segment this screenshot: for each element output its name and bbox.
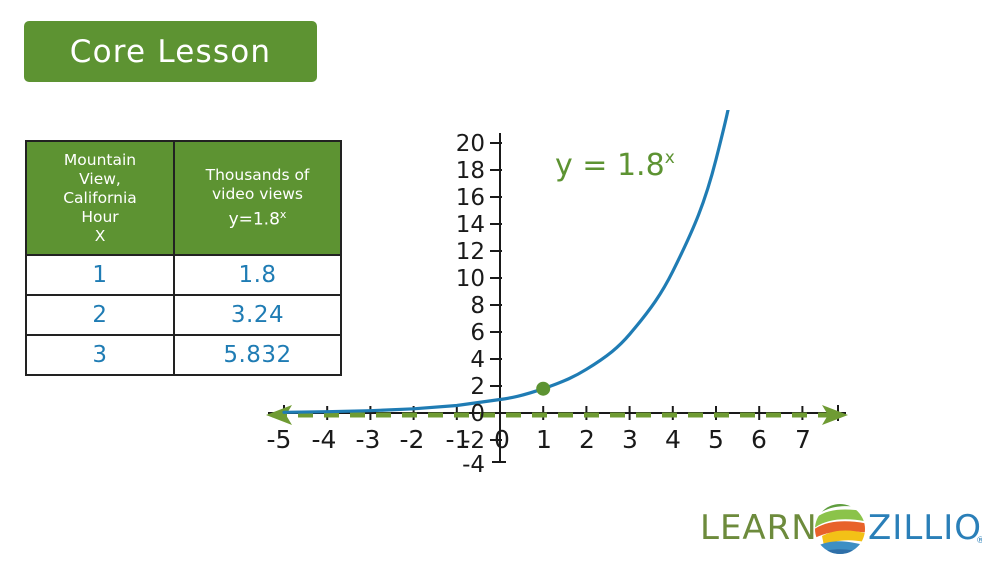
y-tick-label: 8 xyxy=(470,293,485,319)
logo-word-zillion: ZILLION xyxy=(868,508,982,548)
y-tick-label: 18 xyxy=(456,158,485,184)
left-arrow-icon xyxy=(266,405,292,425)
x-tick-label: 4 xyxy=(665,425,681,454)
x-tick-label: -1 xyxy=(446,425,471,454)
x-axis-labels: -5 -4 -3 -2 -1 0 1 2 3 4 5 6 7 xyxy=(267,425,811,454)
x-tick-label: 5 xyxy=(708,425,724,454)
y-tick-label: 10 xyxy=(456,266,485,292)
curve-equation-base: y = 1.8 xyxy=(555,148,665,183)
curve-equation-label: y = 1.8x xyxy=(555,148,675,183)
header-line-4: Hour xyxy=(31,208,169,227)
x-tick-label: 1 xyxy=(536,425,552,454)
x-tick-label: -4 xyxy=(312,425,337,454)
y-tick-label: 14 xyxy=(456,212,485,238)
logo-word-learn: LEARN xyxy=(700,508,818,548)
x-tick-label: -3 xyxy=(356,425,381,454)
logo-svg: LEARN ZILLION ® xyxy=(700,503,982,555)
header-line-2: View, xyxy=(31,170,169,189)
y-tick-label: -4 xyxy=(462,452,485,478)
curve-equation-exponent: x xyxy=(665,148,675,168)
x-tick-label: 0 xyxy=(494,425,510,454)
header-line-1: Mountain xyxy=(31,151,169,170)
logo-globe-icon xyxy=(813,503,869,555)
learnzillion-logo: LEARN ZILLION ® xyxy=(700,503,982,555)
exponential-graph: y = 1.8x 20 18 16 14 12 10 8 6 4 2 0 -2 … xyxy=(250,110,870,480)
x-tick-label: -5 xyxy=(267,425,292,454)
cell-hour: 3 xyxy=(26,335,174,375)
cell-hour: 2 xyxy=(26,295,174,335)
marked-point-1-1point8 xyxy=(536,382,550,396)
core-lesson-banner: Core Lesson xyxy=(24,21,317,82)
y-tick-label: 2 xyxy=(470,374,485,400)
y-tick-label: 6 xyxy=(470,320,485,346)
y-tick-label: 0 xyxy=(470,401,485,427)
table-header-hour: Mountain View, California Hour X xyxy=(26,141,174,255)
x-tick-label: 3 xyxy=(622,425,638,454)
logo-trademark: ® xyxy=(976,536,982,546)
core-lesson-banner-label: Core Lesson xyxy=(70,34,272,70)
y-tick-label: 16 xyxy=(456,185,485,211)
graph-canvas: y = 1.8x 20 18 16 14 12 10 8 6 4 2 0 -2 … xyxy=(250,110,870,480)
x-tick-label: 7 xyxy=(795,425,811,454)
y-tick-label: 12 xyxy=(456,239,485,265)
cell-hour: 1 xyxy=(26,255,174,295)
y-tick-label: 4 xyxy=(470,347,485,373)
x-tick-label: 6 xyxy=(751,425,767,454)
header-line-3: California xyxy=(31,189,169,208)
header-line-5: X xyxy=(31,227,169,246)
y-tick-label: 20 xyxy=(456,131,485,157)
x-tick-label: 2 xyxy=(579,425,595,454)
x-tick-label: -2 xyxy=(400,425,425,454)
